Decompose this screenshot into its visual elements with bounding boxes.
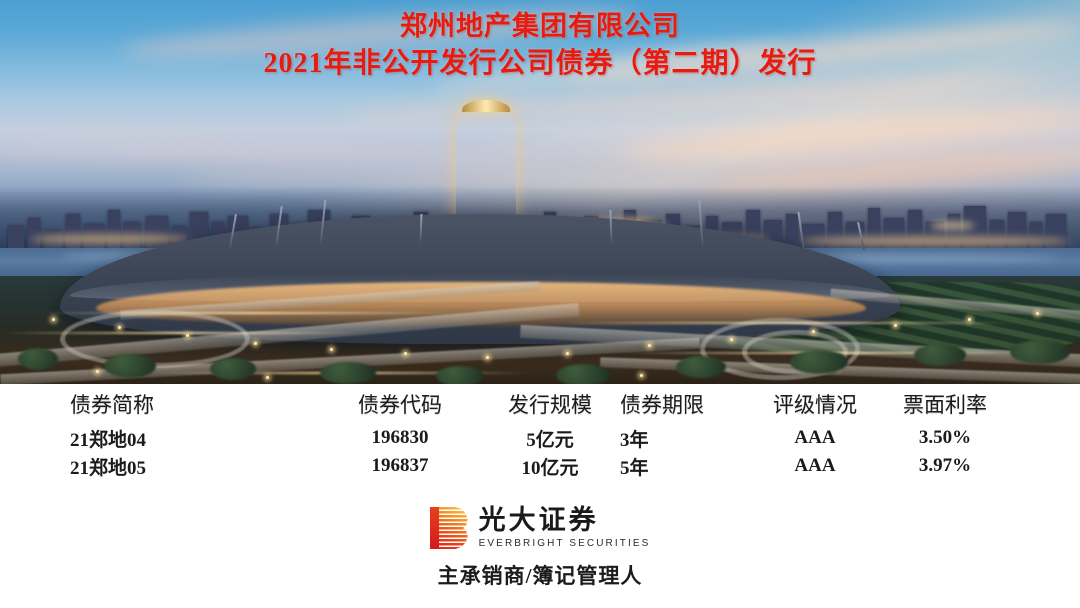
underwriter-footer: 光大证券 EVERBRIGHT SECURITIES 主承销商/簿记管理人 bbox=[0, 502, 1080, 608]
road-light-trail bbox=[40, 312, 460, 314]
street-lamp bbox=[968, 318, 971, 321]
tree-clump bbox=[556, 364, 610, 384]
everbright-logo: 光大证券 EVERBRIGHT SECURITIES bbox=[0, 502, 1080, 554]
street-lamp bbox=[52, 318, 55, 321]
cell-issue-size: 5亿元 bbox=[480, 424, 620, 452]
table-row: 21郑地04 196830 5亿元 3年 AAA 3.50% bbox=[70, 424, 1010, 452]
road-light-trail bbox=[0, 332, 360, 334]
tree-clump bbox=[436, 366, 484, 384]
cell-bond-code: 196837 bbox=[320, 452, 480, 480]
everbright-b-mark-icon bbox=[430, 507, 468, 549]
street-lamp bbox=[730, 338, 733, 341]
cell-coupon-rate: 3.97% bbox=[880, 452, 1010, 480]
street-lamp bbox=[266, 376, 269, 379]
tree-clump bbox=[210, 358, 256, 380]
cell-bond-term: 3年 bbox=[620, 424, 750, 452]
bond-table-section: 债券简称 债券代码 发行规模 债券期限 评级情况 票面利率 21郑地04 196… bbox=[0, 384, 1080, 502]
column-header-bond-term: 债券期限 bbox=[620, 384, 750, 424]
cell-bond-name: 21郑地04 bbox=[70, 424, 320, 452]
table-header-row: 债券简称 债券代码 发行规模 债券期限 评级情况 票面利率 bbox=[70, 384, 1010, 424]
tree-clump bbox=[790, 350, 848, 374]
everbright-logo-chinese: 光大证券 bbox=[479, 507, 651, 534]
bond-issuance-poster: 郑州地产集团有限公司 2021年非公开发行公司债券（第二期）发行 债券简称 债券… bbox=[0, 0, 1080, 608]
column-header-bond-name: 债券简称 bbox=[70, 384, 320, 424]
golden-tower-building bbox=[456, 104, 516, 230]
street-lamp bbox=[812, 330, 815, 333]
column-header-issue-size: 发行规模 bbox=[480, 384, 620, 424]
street-lamp bbox=[648, 344, 651, 347]
street-lamp bbox=[486, 356, 489, 359]
road-light-trail bbox=[560, 322, 1020, 324]
tree-clump bbox=[320, 362, 376, 384]
street-lamp bbox=[404, 352, 407, 355]
tree-clump bbox=[1010, 340, 1070, 364]
cell-credit-rating: AAA bbox=[750, 424, 880, 452]
underwriter-role-label: 主承销商/簿记管理人 bbox=[0, 560, 1080, 590]
cell-credit-rating: AAA bbox=[750, 452, 880, 480]
cell-bond-term: 5年 bbox=[620, 452, 750, 480]
tree-clump bbox=[18, 348, 58, 370]
cell-bond-code: 196830 bbox=[320, 424, 480, 452]
everbright-logo-english: EVERBRIGHT SECURITIES bbox=[479, 539, 651, 549]
street-lamp bbox=[894, 324, 897, 327]
street-lamp bbox=[566, 352, 569, 355]
column-header-bond-code: 债券代码 bbox=[320, 384, 480, 424]
tree-clump bbox=[676, 356, 726, 378]
tree-clump bbox=[914, 344, 966, 366]
column-header-coupon-rate: 票面利率 bbox=[880, 384, 1010, 424]
street-lamp bbox=[254, 342, 257, 345]
tree-clump bbox=[104, 354, 156, 378]
street-lamp bbox=[640, 374, 643, 377]
street-lamp bbox=[96, 370, 99, 373]
street-lamp bbox=[1036, 312, 1039, 315]
street-lamp bbox=[330, 348, 333, 351]
column-header-credit-rating: 评级情况 bbox=[750, 384, 880, 424]
cityscape-photo bbox=[0, 0, 1080, 384]
cell-coupon-rate: 3.50% bbox=[880, 424, 1010, 452]
cell-bond-name: 21郑地05 bbox=[70, 452, 320, 480]
table-row: 21郑地05 196837 10亿元 5年 AAA 3.97% bbox=[70, 452, 1010, 480]
cell-issue-size: 10亿元 bbox=[480, 452, 620, 480]
street-lamp bbox=[186, 334, 189, 337]
street-lamp bbox=[118, 326, 121, 329]
bond-details-table: 债券简称 债券代码 发行规模 债券期限 评级情况 票面利率 21郑地04 196… bbox=[70, 384, 1010, 480]
everbright-logo-text: 光大证券 EVERBRIGHT SECURITIES bbox=[479, 507, 651, 549]
